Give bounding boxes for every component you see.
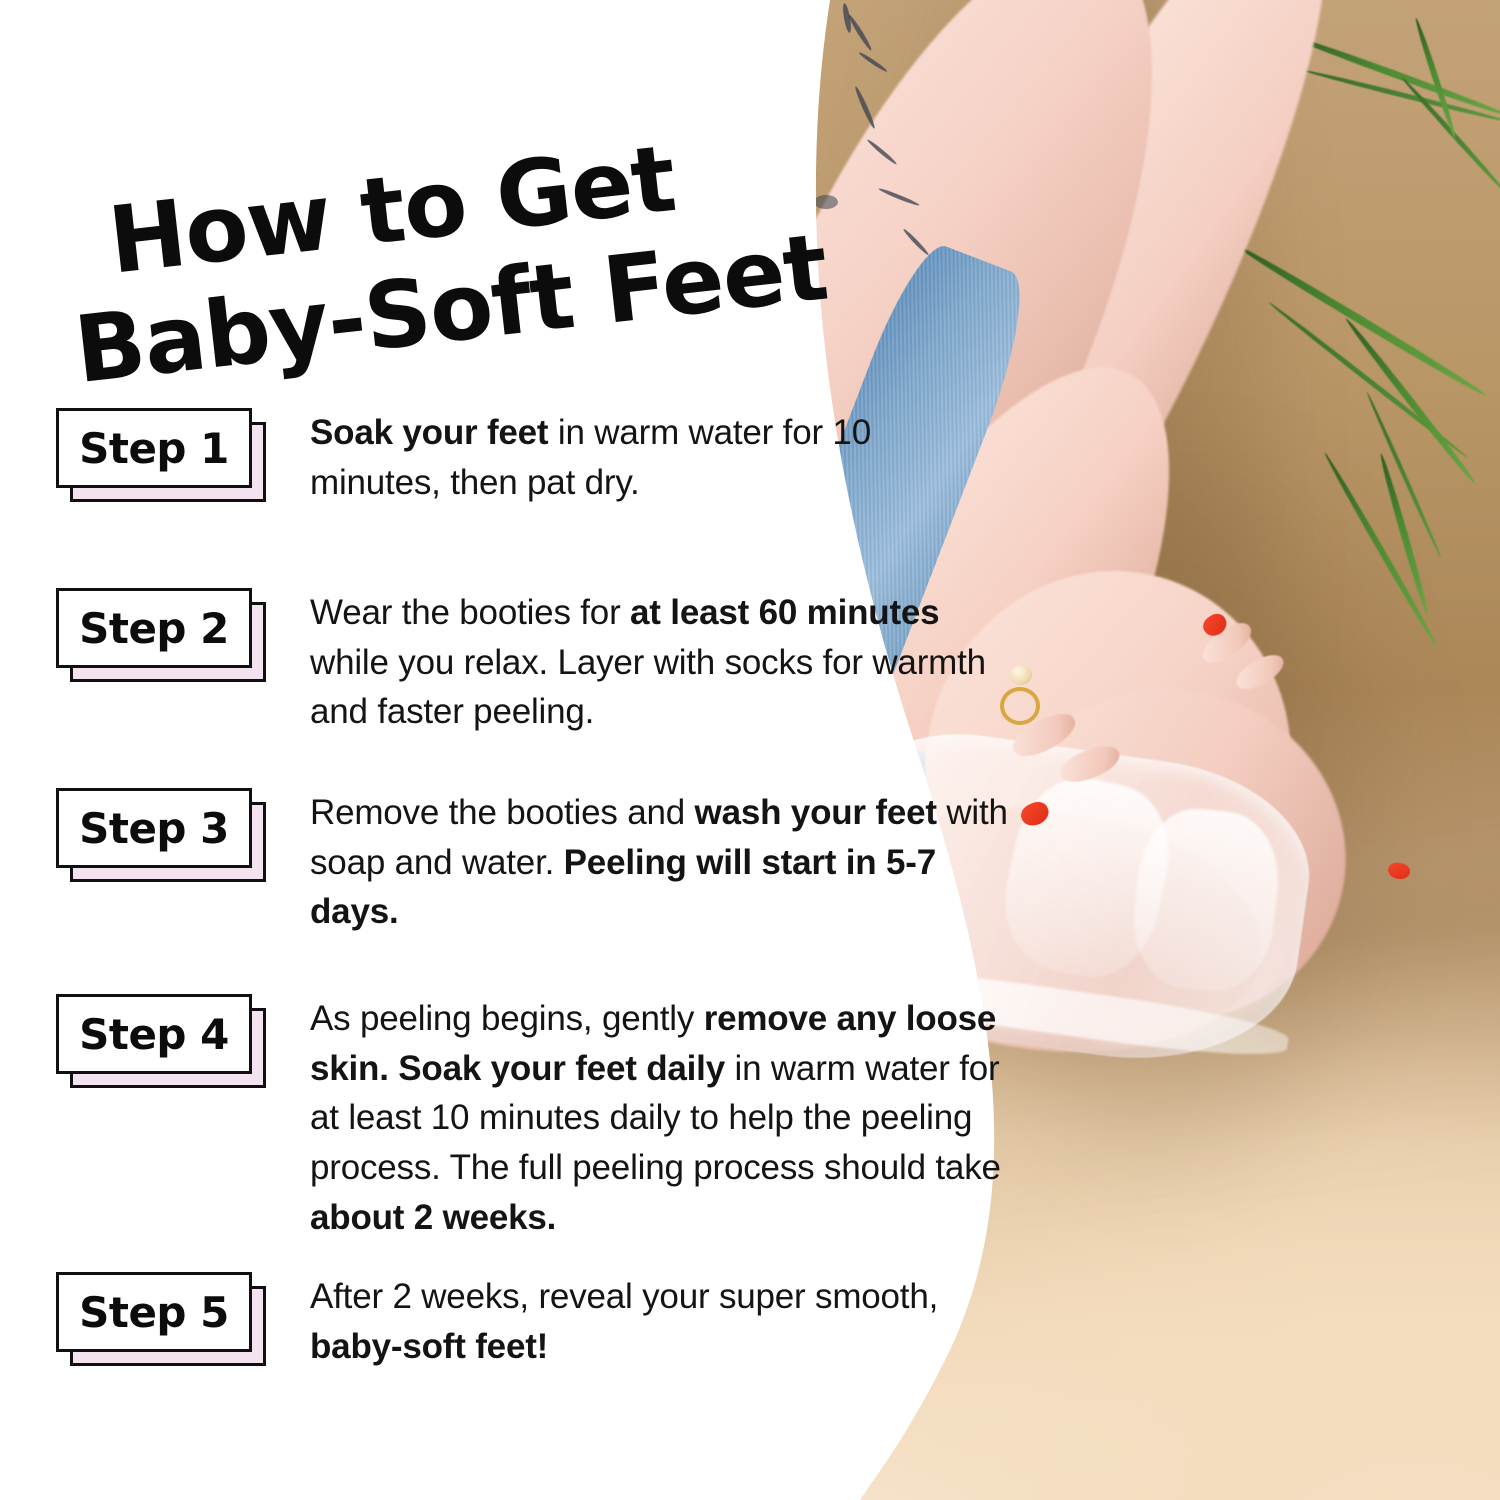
step-text: Remove the booties and bbox=[310, 793, 695, 832]
step-text: while you relax. Layer with socks for wa… bbox=[310, 643, 986, 732]
step-row: Step 1Soak your feet in warm water for 1… bbox=[56, 408, 1010, 507]
step-row: Step 3Remove the booties and wash your f… bbox=[56, 788, 1010, 937]
step-description: Remove the booties and wash your feet wi… bbox=[310, 788, 1010, 937]
step-badge-4: Step 4 bbox=[56, 994, 252, 1074]
step-badge-2: Step 2 bbox=[56, 588, 252, 668]
step-badge-label: Step 5 bbox=[56, 1272, 252, 1352]
step-row: Step 5After 2 weeks, reveal your super s… bbox=[56, 1272, 1010, 1371]
step-text-emphasis: baby-soft feet! bbox=[310, 1327, 548, 1366]
step-text-emphasis: about 2 weeks. bbox=[310, 1198, 556, 1237]
step-text: After 2 weeks, reveal your super smooth, bbox=[310, 1277, 938, 1316]
step-text-emphasis: at least 60 minutes bbox=[630, 593, 939, 632]
step-text-emphasis: wash your feet bbox=[695, 793, 937, 832]
step-row: Step 4As peeling begins, gently remove a… bbox=[56, 994, 1010, 1242]
step-text: As peeling begins, gently bbox=[310, 999, 704, 1038]
step-badge-label: Step 1 bbox=[56, 408, 252, 488]
step-badge-label: Step 2 bbox=[56, 588, 252, 668]
step-badge-1: Step 1 bbox=[56, 408, 252, 488]
step-row: Step 2Wear the booties for at least 60 m… bbox=[56, 588, 1010, 737]
step-description: After 2 weeks, reveal your super smooth,… bbox=[310, 1272, 1010, 1371]
step-badge-label: Step 3 bbox=[56, 788, 252, 868]
step-description: Wear the booties for at least 60 minutes… bbox=[310, 588, 1010, 737]
step-description: As peeling begins, gently remove any loo… bbox=[310, 994, 1010, 1242]
step-badge-label: Step 4 bbox=[56, 994, 252, 1074]
ring-gem bbox=[1010, 665, 1032, 685]
step-text-emphasis: Soak your feet bbox=[310, 413, 548, 452]
step-badge-5: Step 5 bbox=[56, 1272, 252, 1352]
step-text: Wear the booties for bbox=[310, 593, 630, 632]
step-description: Soak your feet in warm water for 10 minu… bbox=[310, 408, 1010, 507]
step-badge-3: Step 3 bbox=[56, 788, 252, 868]
